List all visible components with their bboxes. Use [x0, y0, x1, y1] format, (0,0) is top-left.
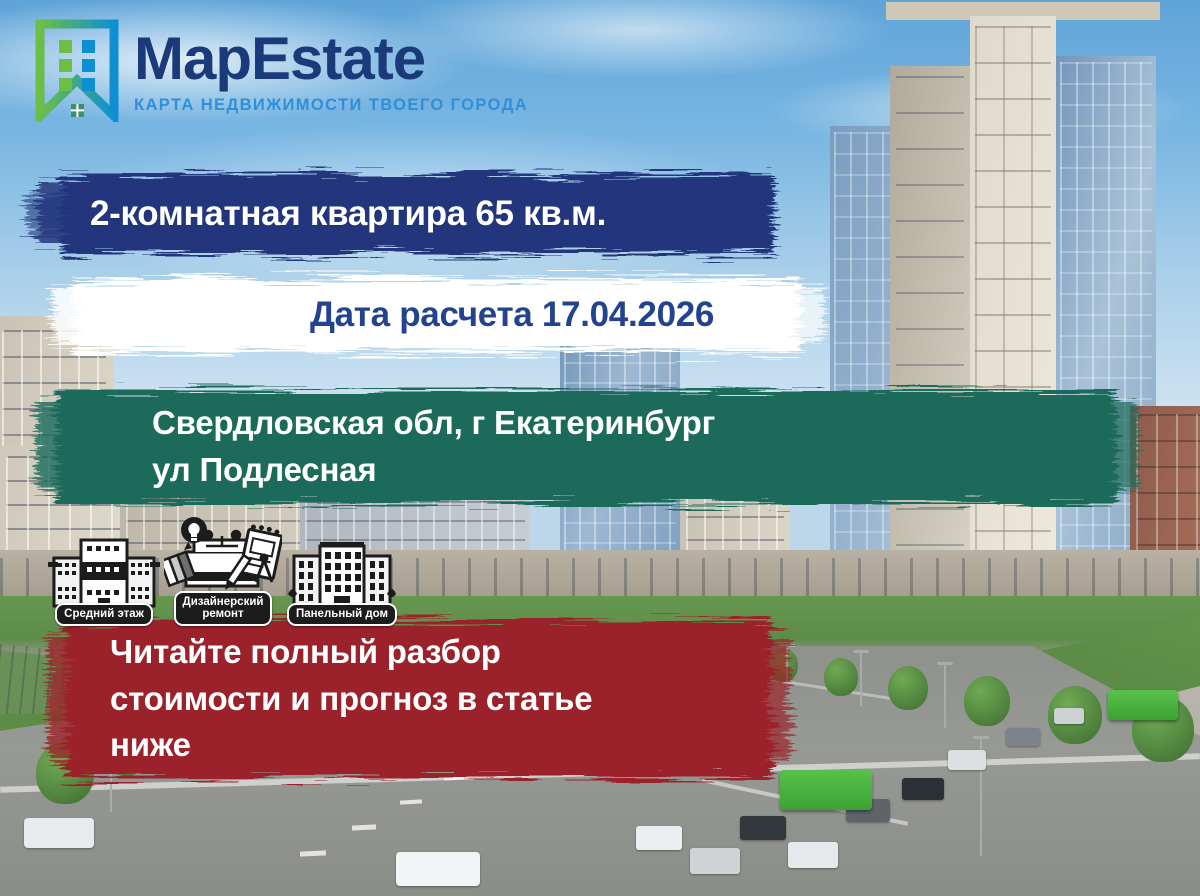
- brand-logo[interactable]: MapEstate КАРТА НЕДВИЖИМОСТИ ТВОЕГО ГОРО…: [34, 18, 528, 122]
- bus-shelter: [24, 818, 94, 848]
- tree: [964, 676, 1010, 726]
- van: [396, 852, 480, 886]
- address-line-2: ул Подлесная: [152, 447, 1146, 494]
- brand-name: MapEstate: [134, 30, 528, 88]
- car: [636, 826, 682, 850]
- car: [740, 816, 786, 840]
- car: [788, 842, 838, 868]
- city-bus: [1108, 690, 1178, 720]
- car: [902, 778, 944, 800]
- designer-renovation-icon: [164, 516, 282, 598]
- badge-designer-renovation[interactable]: Дизайнерский ремонт: [164, 516, 282, 626]
- tree: [888, 666, 928, 710]
- cta-line-1: Читайте полный разбор: [110, 629, 798, 676]
- cta-line-2: стоимости и прогноз в статье: [110, 676, 798, 723]
- date-banner-text: Дата расчета 17.04.2026: [310, 296, 830, 335]
- badge-mid-floor[interactable]: Средний этаж: [48, 532, 160, 625]
- badge-panel-house[interactable]: Панельный дом: [286, 532, 398, 625]
- brand-tagline: КАРТА НЕДВИЖИМОСТИ ТВОЕГО ГОРОДА: [134, 96, 528, 115]
- tree: [824, 658, 858, 696]
- car: [948, 750, 986, 770]
- cta-line-3: ниже: [110, 722, 798, 769]
- property-banner: 2-комнатная квартира 65 кв.м.: [18, 162, 786, 266]
- badge-label: Дизайнерский ремонт: [174, 591, 273, 626]
- car: [1054, 708, 1084, 724]
- hero-tower-glass-left: [830, 126, 894, 596]
- promo-poster: MapEstate КАРТА НЕДВИЖИМОСТИ ТВОЕГО ГОРО…: [0, 0, 1200, 896]
- date-banner: Дата расчета 17.04.2026: [40, 268, 830, 362]
- street-lamp: [860, 650, 862, 706]
- badge-label: Средний этаж: [55, 603, 153, 625]
- car: [1006, 728, 1040, 746]
- panel-house-icon: [286, 532, 398, 610]
- bookmark-building-icon: [34, 18, 120, 122]
- cta-banner[interactable]: Читайте полный разбор стоимости и прогно…: [38, 608, 798, 790]
- car: [690, 848, 740, 874]
- street-lamp: [944, 662, 946, 728]
- hero-tower-balconies: [890, 66, 970, 596]
- badge-label: Панельный дом: [287, 603, 397, 625]
- property-banner-text: 2-комнатная квартира 65 кв.м.: [90, 195, 786, 234]
- feature-badge-row: Средний этаж: [48, 516, 398, 626]
- address-banner: Свердловская обл, г Екатеринбург ул Подл…: [22, 380, 1146, 514]
- mid-floor-building-icon: [48, 532, 160, 610]
- address-line-1: Свердловская обл, г Екатеринбург: [152, 400, 1146, 447]
- window-glyph: [71, 104, 84, 117]
